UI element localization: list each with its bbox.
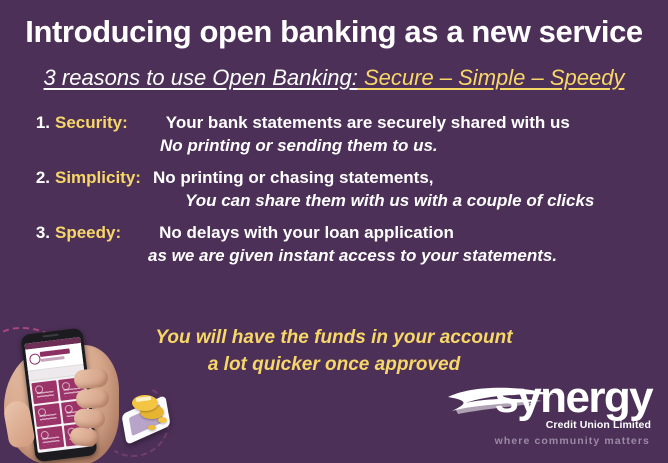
reason-item-security: 1. Security: Your bank statements are se… bbox=[0, 113, 668, 156]
phone-speaker-icon bbox=[43, 334, 59, 338]
reason-sub-text: No printing or sending them to us. bbox=[160, 136, 668, 156]
coin-icon bbox=[158, 417, 167, 423]
app-tile bbox=[34, 403, 61, 427]
reason-headline: 3. Speedy: No delays with your loan appl… bbox=[0, 223, 668, 243]
subtitle: 3 reasons to use Open Banking: Secure – … bbox=[0, 63, 668, 93]
hand-phone-illustration bbox=[0, 323, 210, 463]
finger-shape bbox=[76, 388, 110, 409]
brand-logo: synergy Credit Union Limited where commu… bbox=[440, 375, 652, 453]
app-tile bbox=[31, 380, 58, 404]
subtitle-highlight: Secure – Simple – Speedy bbox=[358, 65, 625, 90]
reason-main-text: No printing or chasing statements, bbox=[141, 168, 434, 188]
logo-subtitle: Credit Union Limited bbox=[546, 419, 651, 431]
logo-tagline: where community matters bbox=[495, 435, 650, 447]
app-logo-subtext bbox=[40, 356, 64, 362]
reason-number: 1. bbox=[0, 113, 50, 133]
finger-shape bbox=[74, 408, 106, 428]
reason-term: Security: bbox=[50, 113, 128, 133]
coins-phone-illustration bbox=[118, 391, 184, 445]
reason-term: Simplicity: bbox=[50, 168, 141, 188]
reasons-list: 1. Security: Your bank statements are se… bbox=[0, 113, 668, 278]
reason-headline: 2. Simplicity: No printing or chasing st… bbox=[0, 168, 668, 188]
reason-main-text: Your bank statements are securely shared… bbox=[128, 113, 570, 133]
reason-number: 3. bbox=[0, 223, 50, 243]
reason-sub-text: You can share them with us with a couple… bbox=[185, 191, 668, 211]
reason-item-simplicity: 2. Simplicity: No printing or chasing st… bbox=[0, 168, 668, 211]
logo-wordmark: synergy bbox=[494, 375, 652, 421]
reason-sub-text: as we are given instant access to your s… bbox=[148, 246, 668, 266]
reason-item-speedy: 3. Speedy: No delays with your loan appl… bbox=[0, 223, 668, 266]
app-logo-wordmark bbox=[40, 348, 70, 357]
reason-term: Speedy: bbox=[50, 223, 121, 243]
page-title: Introducing open banking as a new servic… bbox=[0, 12, 668, 52]
coin-icon bbox=[148, 425, 156, 430]
subtitle-lead: 3 reasons to use Open Banking: bbox=[44, 65, 358, 90]
reason-number: 2. bbox=[0, 168, 50, 188]
slide-canvas: Introducing open banking as a new servic… bbox=[0, 0, 668, 463]
reason-headline: 1. Security: Your bank statements are se… bbox=[0, 113, 668, 133]
reason-main-text: No delays with your loan application bbox=[121, 223, 454, 243]
app-tile bbox=[37, 426, 64, 450]
